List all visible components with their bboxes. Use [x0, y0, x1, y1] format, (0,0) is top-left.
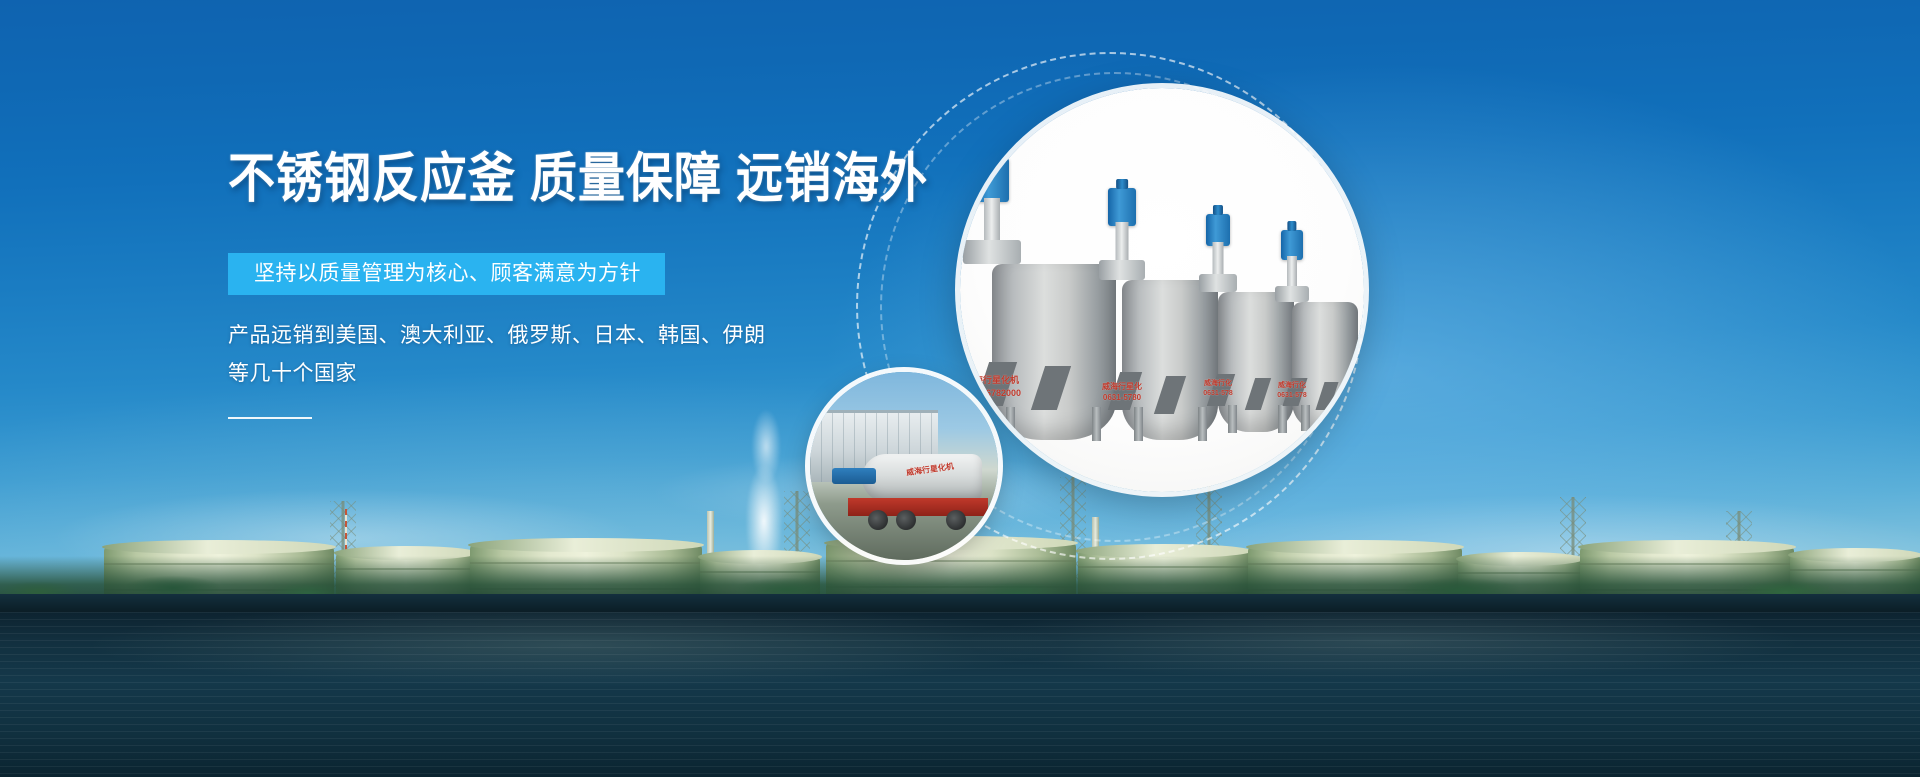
body-line-1: 产品远销到美国、澳大利亚、俄罗斯、日本、韩国、伊朗 — [228, 317, 928, 355]
truck-wheel — [946, 510, 966, 530]
vessel-label-4-line1: 威海行化 — [1278, 380, 1306, 390]
product-photo-reactors: 威海行星化机 0631-6782000 威海行星化 0631-5780 — [960, 88, 1364, 492]
subtitle-highlight-bar: 坚持以质量管理为核心、顾客满意为方针 — [228, 253, 665, 295]
copy-block: 不锈钢反应釜 质量保障 远销海外 坚持以质量管理为核心、顾客满意为方针 产品远销… — [228, 150, 928, 419]
vessel-label-2-line1: 威海行星化 — [1102, 381, 1142, 392]
vessel-label-3-line2: 0631-578 — [1203, 390, 1233, 397]
vessel-label-2-line2: 0631-5780 — [1103, 393, 1141, 402]
hero-banner: 威海行星化机 0631-6782000 威海行星化 0631-5780 — [0, 0, 1920, 777]
body-paragraph: 产品远销到美国、澳大利亚、俄罗斯、日本、韩国、伊朗 等几十个国家 — [228, 317, 928, 393]
vessel-label-1-line1: 威海行星化机 — [965, 373, 1019, 386]
truck-wheel — [896, 510, 916, 530]
truck-wheel — [868, 510, 888, 530]
tanker-nozzle — [832, 468, 876, 484]
tanker-vessel — [862, 454, 982, 502]
vessel-label-1-line2: 0631-6782000 — [963, 388, 1021, 398]
page-title: 不锈钢反应釜 质量保障 远销海外 — [228, 150, 928, 208]
divider-rule — [228, 417, 312, 419]
vessel-label-4-line2: 0631-578 — [1277, 392, 1307, 399]
vessel-label-3-line1: 威海行化 — [1204, 378, 1232, 388]
body-line-2: 等几十个国家 — [228, 355, 928, 393]
